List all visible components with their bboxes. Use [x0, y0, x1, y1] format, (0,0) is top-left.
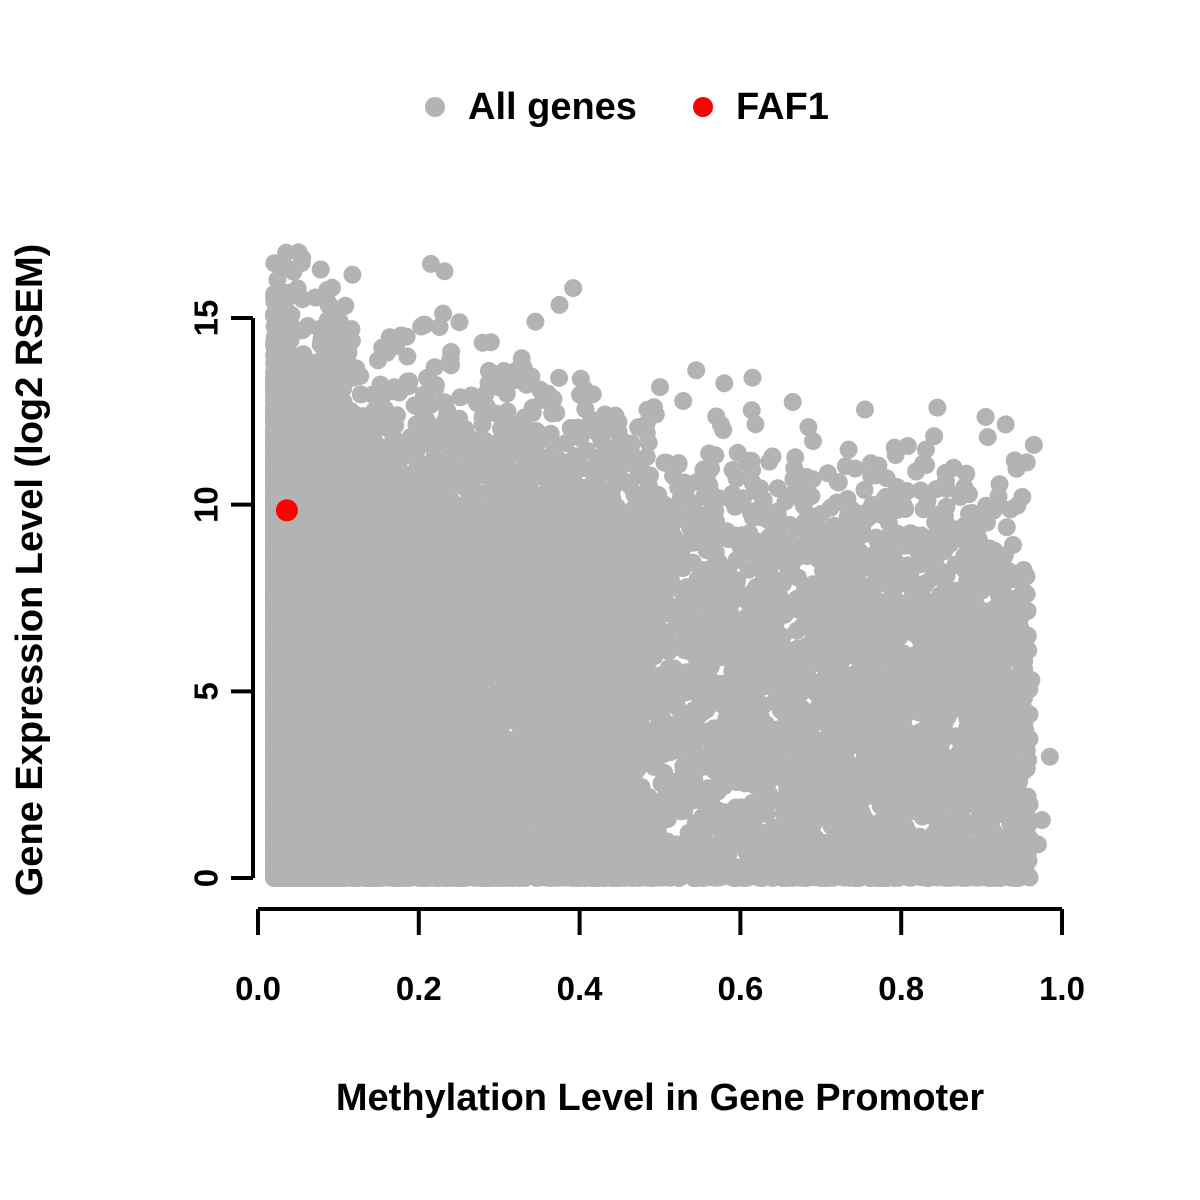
- x-tick-labels: 0.00.20.40.60.81.0: [235, 970, 1085, 1007]
- y-tick-labels: 051015: [188, 300, 225, 888]
- legend-label-all-genes: All genes: [468, 86, 637, 128]
- legend-label-faf1: FAF1: [736, 86, 829, 128]
- y-axis-title: Gene Expression Level (log2 RSEM): [9, 244, 51, 897]
- legend-marker-all-genes: [425, 97, 445, 117]
- legend-marker-faf1: [693, 97, 713, 117]
- x-tick-label: 1.0: [1039, 970, 1085, 1007]
- y-tick-label: 10: [188, 486, 225, 523]
- y-tick-label: 5: [188, 682, 225, 700]
- x-tick-label: 0.0: [235, 970, 281, 1007]
- y-axis: [231, 318, 253, 878]
- x-axis-title: Methylation Level in Gene Promoter: [336, 1077, 984, 1119]
- x-tick-label: 0.4: [557, 970, 604, 1007]
- y-tick-label: 15: [188, 300, 225, 337]
- legend: All genesFAF1: [425, 86, 829, 128]
- all-genes-point-cloud: [265, 243, 1059, 887]
- y-tick-label: 0: [188, 869, 225, 887]
- x-tick-label: 0.8: [878, 970, 924, 1007]
- scatter-plot-figure: 051015 0.00.20.40.60.81.0 All genesFAF1 …: [0, 0, 1200, 1200]
- x-axis: [258, 909, 1062, 935]
- plot-canvas: 051015 0.00.20.40.60.81.0 All genesFAF1 …: [0, 0, 1200, 1200]
- faf1-highlight-point[interactable]: [276, 499, 298, 521]
- x-tick-label: 0.2: [396, 970, 442, 1007]
- x-tick-label: 0.6: [717, 970, 763, 1007]
